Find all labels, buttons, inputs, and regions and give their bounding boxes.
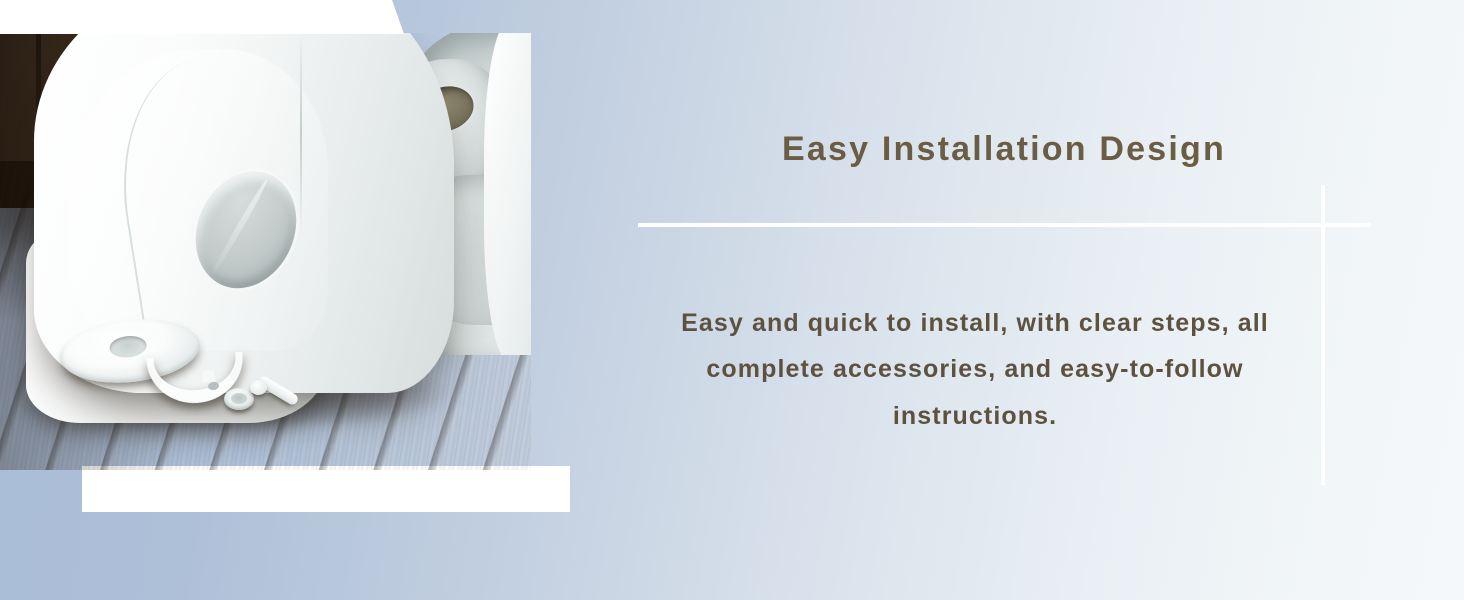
part-bracket-tab bbox=[201, 370, 215, 382]
promo-banner: Easy Installation Design Easy and quick … bbox=[0, 0, 1464, 600]
product-photo bbox=[0, 33, 531, 470]
part-spacer-ring bbox=[224, 388, 254, 410]
photo-scene bbox=[0, 33, 531, 470]
page-title: Easy Installation Design bbox=[638, 131, 1370, 168]
ceramic-moulding-seam-secondary bbox=[300, 33, 302, 233]
photo-white-slab bbox=[82, 466, 570, 512]
divider-vertical bbox=[1321, 185, 1325, 485]
photo-top-wedge bbox=[0, 0, 415, 34]
trapway-rim bbox=[484, 33, 531, 355]
body-description: Easy and quick to install, with clear st… bbox=[645, 300, 1305, 439]
divider-horizontal bbox=[638, 223, 1370, 227]
part-fixing-bolt-head bbox=[250, 380, 267, 395]
